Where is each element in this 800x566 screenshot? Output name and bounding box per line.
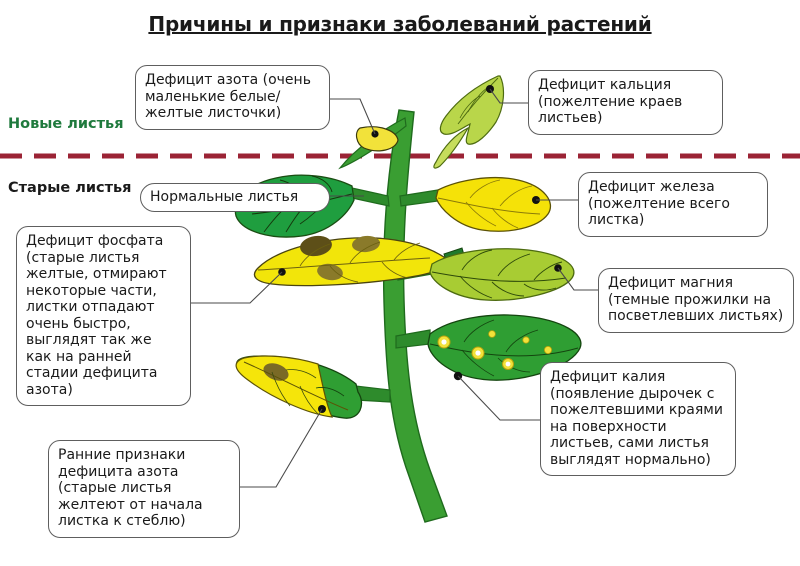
callout-magnesium-deficiency: Дефицит магния (темные прожилки на посве… — [598, 268, 794, 333]
connector-early-nitrogen — [240, 409, 322, 487]
callout-nitrogen-deficiency: Дефицит азота (очень маленькие белые/ же… — [135, 65, 330, 130]
leaf-magnesium — [430, 249, 574, 300]
connector-potassium — [458, 376, 540, 420]
callout-potassium-deficiency: Дефицит калия (появление дырочек с пожел… — [540, 362, 736, 476]
leaf-iron-yellow — [436, 178, 550, 232]
callout-phosphate-deficiency: Дефицит фосфата (старые листья желтые, о… — [16, 226, 191, 406]
callout-iron-deficiency: Дефицит железа (пожелтение всего листка) — [578, 172, 768, 237]
leaf-early-nitrogen — [236, 356, 361, 418]
section-label-old-leaves: Старые листья — [8, 180, 131, 196]
section-label-new-leaves: Новые листья — [8, 116, 124, 132]
plant-stem — [340, 110, 447, 522]
callout-early-nitrogen-deficiency: Ранние признаки дефицита азота (старые л… — [48, 440, 240, 538]
callout-normal-leaves: Нормальные листья — [140, 183, 330, 212]
diagram-page: Причины и признаки заболеваний растений … — [0, 0, 800, 566]
page-title: Причины и признаки заболеваний растений — [0, 12, 800, 36]
callout-calcium-deficiency: Дефицит кальция (пожелтение краев листье… — [528, 70, 723, 135]
